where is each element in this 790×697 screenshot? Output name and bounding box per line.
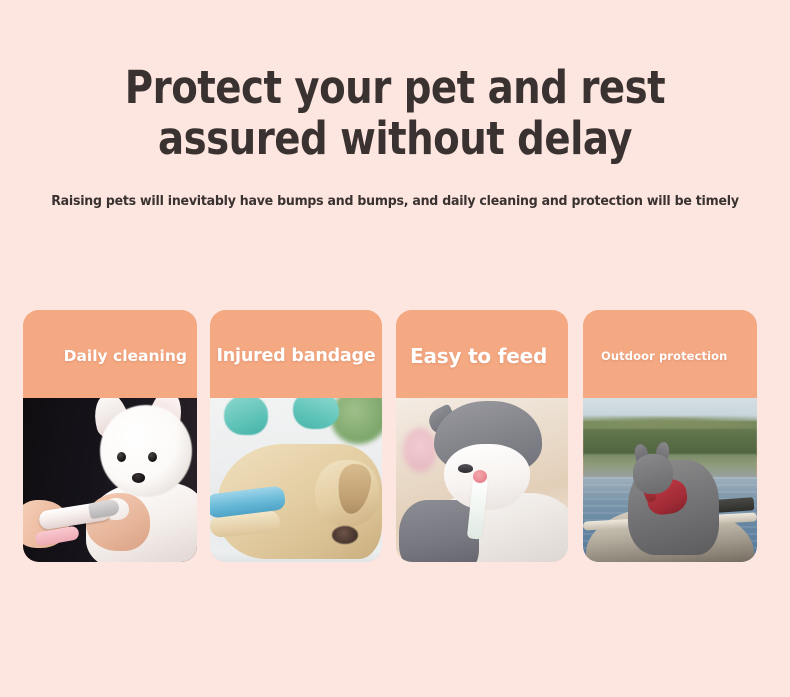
dog-eye-left [117, 452, 126, 462]
card-header: Outdoor protection [583, 310, 757, 402]
vet-glove-right [293, 398, 339, 429]
card-photo-injured-bandage [210, 398, 382, 562]
card-photo-easy-to-feed [396, 398, 568, 562]
card-label: Outdoor protection [601, 349, 727, 363]
page-subtitle: Raising pets will inevitably have bumps … [28, 193, 763, 209]
vet-glove-left [224, 398, 268, 435]
tree-line [583, 421, 757, 457]
dog-head [633, 454, 673, 494]
hero-section: Protect your pet and rest assured withou… [0, 62, 790, 164]
feature-card-outdoor-protection[interactable]: Outdoor protection [583, 310, 757, 562]
card-photo-daily-cleaning [23, 398, 197, 562]
cat-eye [458, 464, 473, 473]
card-label: Daily cleaning [64, 347, 187, 365]
card-label: Injured bandage [216, 346, 375, 366]
card-header: Easy to feed [396, 310, 568, 402]
page-title: Protect your pet and rest assured withou… [55, 62, 734, 164]
background-object [403, 428, 437, 472]
card-header: Daily cleaning [23, 310, 197, 402]
promo-page: Protect your pet and rest assured withou… [0, 0, 790, 697]
card-header: Injured bandage [210, 310, 382, 402]
puppy-snout [332, 526, 358, 544]
feature-card-daily-cleaning[interactable]: Daily cleaning [23, 310, 197, 562]
feature-card-injured-bandage[interactable]: Injured bandage [210, 310, 382, 562]
dog-head [100, 405, 192, 497]
card-photo-outdoor-protection [583, 398, 757, 562]
feature-card-row: Daily cleaning [0, 310, 790, 566]
card-label: Easy to feed [410, 344, 547, 368]
feature-card-easy-to-feed[interactable]: Easy to feed [396, 310, 568, 562]
cat-face [444, 444, 530, 510]
